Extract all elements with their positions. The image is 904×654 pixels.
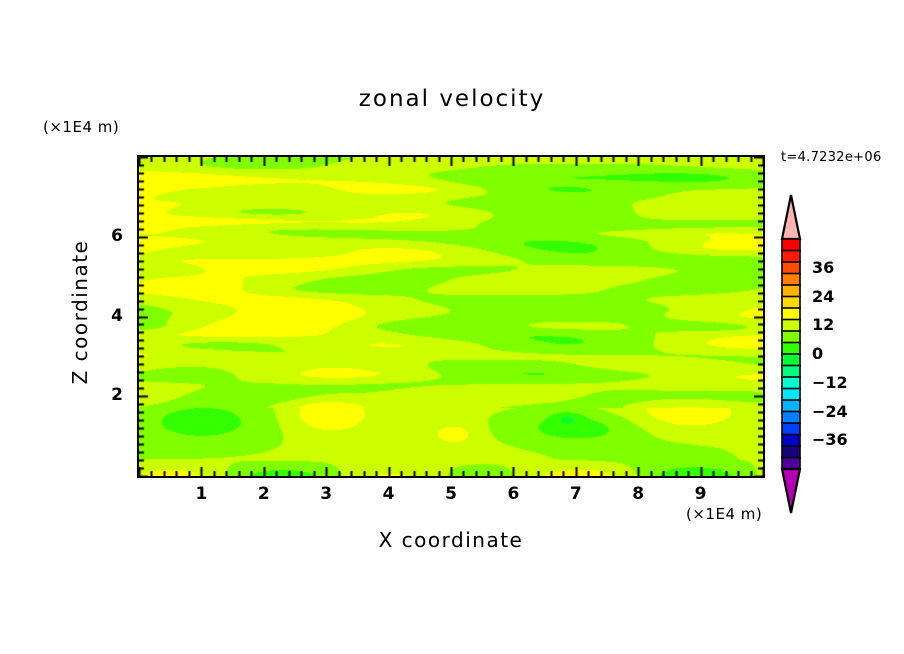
colorbar-band: [782, 262, 800, 274]
colorbar-band: [782, 389, 800, 401]
plot-figure: zonal velocity (×1E4 m) (×1E4 m) t=4.723…: [0, 0, 904, 654]
x-tick-label: 3: [311, 484, 341, 504]
time-stamp-annotation: t=4.7232e+06: [781, 150, 882, 165]
colorbar-band: [782, 274, 800, 286]
colorbar-tick-label: 0: [812, 344, 823, 363]
colorbar-band: [782, 343, 800, 355]
y-tick-label: 6: [99, 226, 123, 246]
colorbar-band: [782, 251, 800, 263]
colorbar-band: [782, 331, 800, 343]
colorbar-over-arrow: [782, 195, 800, 239]
colorbar-tick-label: −36: [812, 430, 848, 449]
colorbar-band: [782, 285, 800, 297]
colorbar-band: [782, 308, 800, 320]
colorbar-tick-label: −24: [812, 402, 848, 421]
x-tick-label: 2: [249, 484, 279, 504]
colorbar-tick-label: 12: [812, 315, 834, 334]
y-axis-unit-label: (×1E4 m): [43, 118, 119, 136]
x-tick-label: 5: [436, 484, 466, 504]
page-title: zonal velocity: [0, 86, 904, 112]
colorbar-band: [782, 400, 800, 412]
y-tick-label: 2: [99, 385, 123, 405]
colorbar-tick-label: 36: [812, 258, 834, 277]
x-axis-title: X coordinate: [137, 528, 765, 552]
y-axis-title: Z coordinate: [68, 212, 92, 412]
x-tick-label: 9: [686, 484, 716, 504]
x-tick-label: 4: [374, 484, 404, 504]
y-tick-label: 4: [99, 306, 123, 326]
colorbar-band: [782, 446, 800, 458]
colorbar-band: [782, 423, 800, 435]
colorbar-band: [782, 412, 800, 424]
colorbar-under-arrow: [782, 469, 800, 513]
colorbar-band: [782, 458, 800, 470]
x-tick-label: 1: [186, 484, 216, 504]
colorbar-tick-label: 24: [812, 287, 834, 306]
colorbar-band: [782, 297, 800, 309]
contour-plot-area: [137, 155, 765, 478]
colorbar-band: [782, 366, 800, 378]
colorbar-band: [782, 435, 800, 447]
colorbar: [778, 193, 812, 515]
colorbar-band: [782, 320, 800, 332]
x-axis-unit-label: (×1E4 m): [686, 505, 762, 523]
contour-field-canvas: [139, 157, 763, 476]
colorbar-band: [782, 239, 800, 251]
x-tick-label: 7: [561, 484, 591, 504]
x-tick-label: 6: [498, 484, 528, 504]
colorbar-band: [782, 377, 800, 389]
colorbar-band: [782, 354, 800, 366]
colorbar-tick-label: −12: [812, 373, 848, 392]
x-tick-label: 8: [623, 484, 653, 504]
